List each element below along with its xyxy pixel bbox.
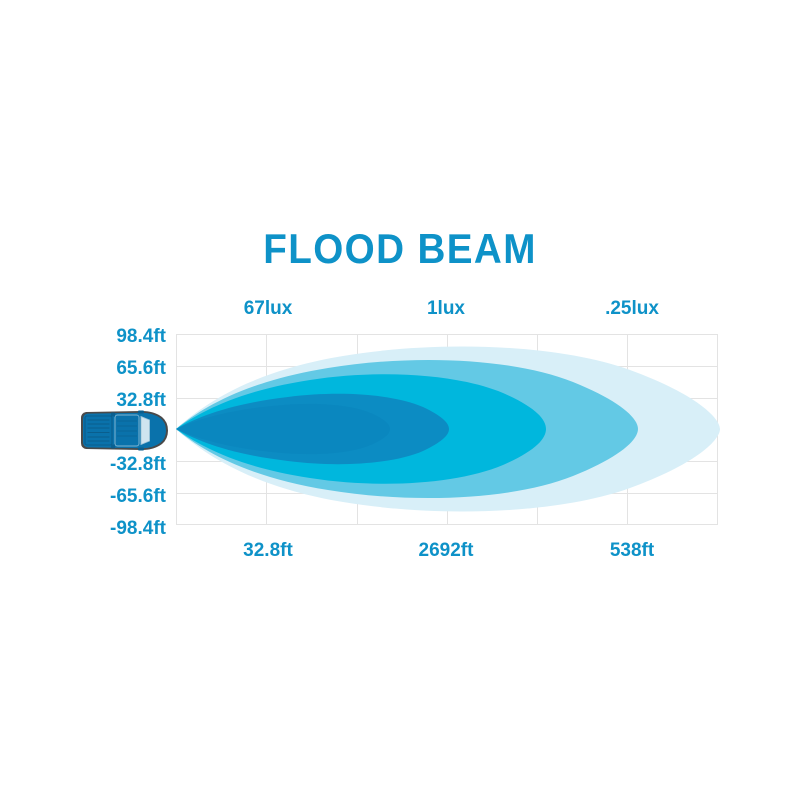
plot-area xyxy=(176,334,718,525)
y-tick-65: 65.6ft xyxy=(116,359,166,378)
x-tick-1: 32.8ft xyxy=(188,541,348,560)
y-tick-neg98: -98.4ft xyxy=(110,519,166,538)
y-tick-98: 98.4ft xyxy=(116,327,166,346)
x-tick-3: 538ft xyxy=(552,541,712,560)
pickup-truck-top-view-icon xyxy=(78,406,172,455)
vehicle-icon xyxy=(78,406,172,455)
beam-pattern xyxy=(168,308,728,551)
page-title: FLOOD BEAM xyxy=(32,228,768,270)
x-tick-2: 2692ft xyxy=(366,541,526,560)
y-tick-neg32: -32.8ft xyxy=(110,455,166,474)
y-tick-neg65: -65.6ft xyxy=(110,487,166,506)
beam-pattern-diagram: FLOOD BEAM 67lux 1lux .25lux 98.4ft 65.6… xyxy=(0,0,800,800)
